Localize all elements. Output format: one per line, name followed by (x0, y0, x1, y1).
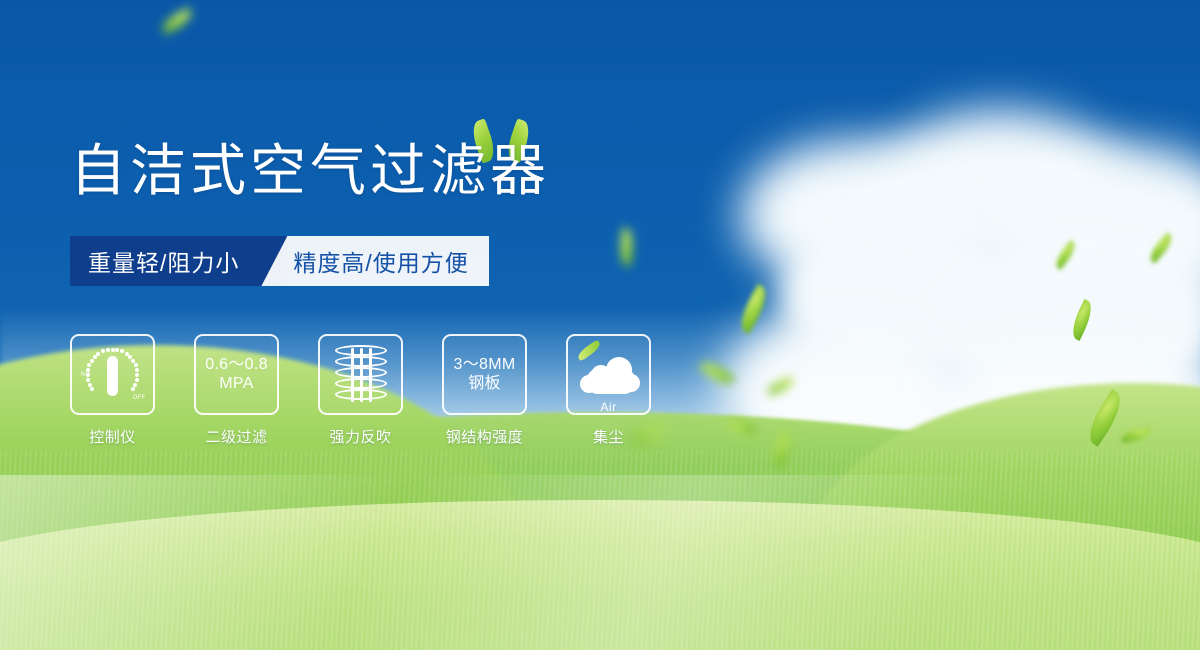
gauge-icon: NO OFF (82, 346, 144, 404)
gauge-label-off: OFF (133, 395, 146, 401)
feature-item[interactable]: NO OFF 控制仪 (70, 334, 155, 447)
coil-icon (335, 345, 387, 405)
feature-icon-box: 0.6～0.8MPA (194, 334, 279, 415)
subtitle-divider (261, 236, 287, 286)
grass-texture (0, 450, 1200, 650)
feature-caption: 集尘 (593, 426, 624, 447)
feature-caption: 二级过滤 (205, 426, 267, 447)
feature-icon-box: 3～8MM钢板 (442, 334, 527, 415)
gauge-label-no: NO (81, 372, 91, 378)
page-title: 自洁式空气过滤器 (70, 143, 550, 199)
feature-icon-box: Air (566, 334, 651, 415)
cloud-air-label: Air (578, 400, 640, 414)
leaf-streak-icon (575, 339, 602, 361)
feature-item[interactable]: 0.6～0.8MPA 二级过滤 (194, 334, 279, 447)
feature-item[interactable]: 强力反吹 (318, 334, 403, 447)
pressure-text-icon: 0.6～0.8MPA (205, 356, 268, 394)
subtitle-right-text: 精度高/使用方便 (287, 236, 488, 286)
feature-item[interactable]: 3～8MM钢板 钢结构强度 (442, 334, 527, 447)
feature-icon-box: NO OFF (70, 334, 155, 415)
feature-caption: 强力反吹 (329, 426, 391, 447)
steelplate-text-icon: 3～8MM钢板 (454, 356, 516, 394)
feature-caption: 钢结构强度 (446, 426, 524, 447)
cloud-air-icon: Air (578, 352, 640, 398)
feature-icon-box (318, 334, 403, 415)
feature-list: NO OFF 控制仪 0.6～0.8MPA 二级过滤 (70, 334, 651, 447)
subtitle-left-text: 重量轻/阻力小 (70, 236, 261, 286)
subtitle-bar: 重量轻/阻力小 精度高/使用方便 (70, 236, 489, 286)
product-banner: 自洁式空气过滤器 重量轻/阻力小 精度高/使用方便 NO OFF 控制仪 0.6… (0, 0, 1200, 650)
feature-item[interactable]: Air 集尘 (566, 334, 651, 447)
feature-caption: 控制仪 (89, 426, 136, 447)
